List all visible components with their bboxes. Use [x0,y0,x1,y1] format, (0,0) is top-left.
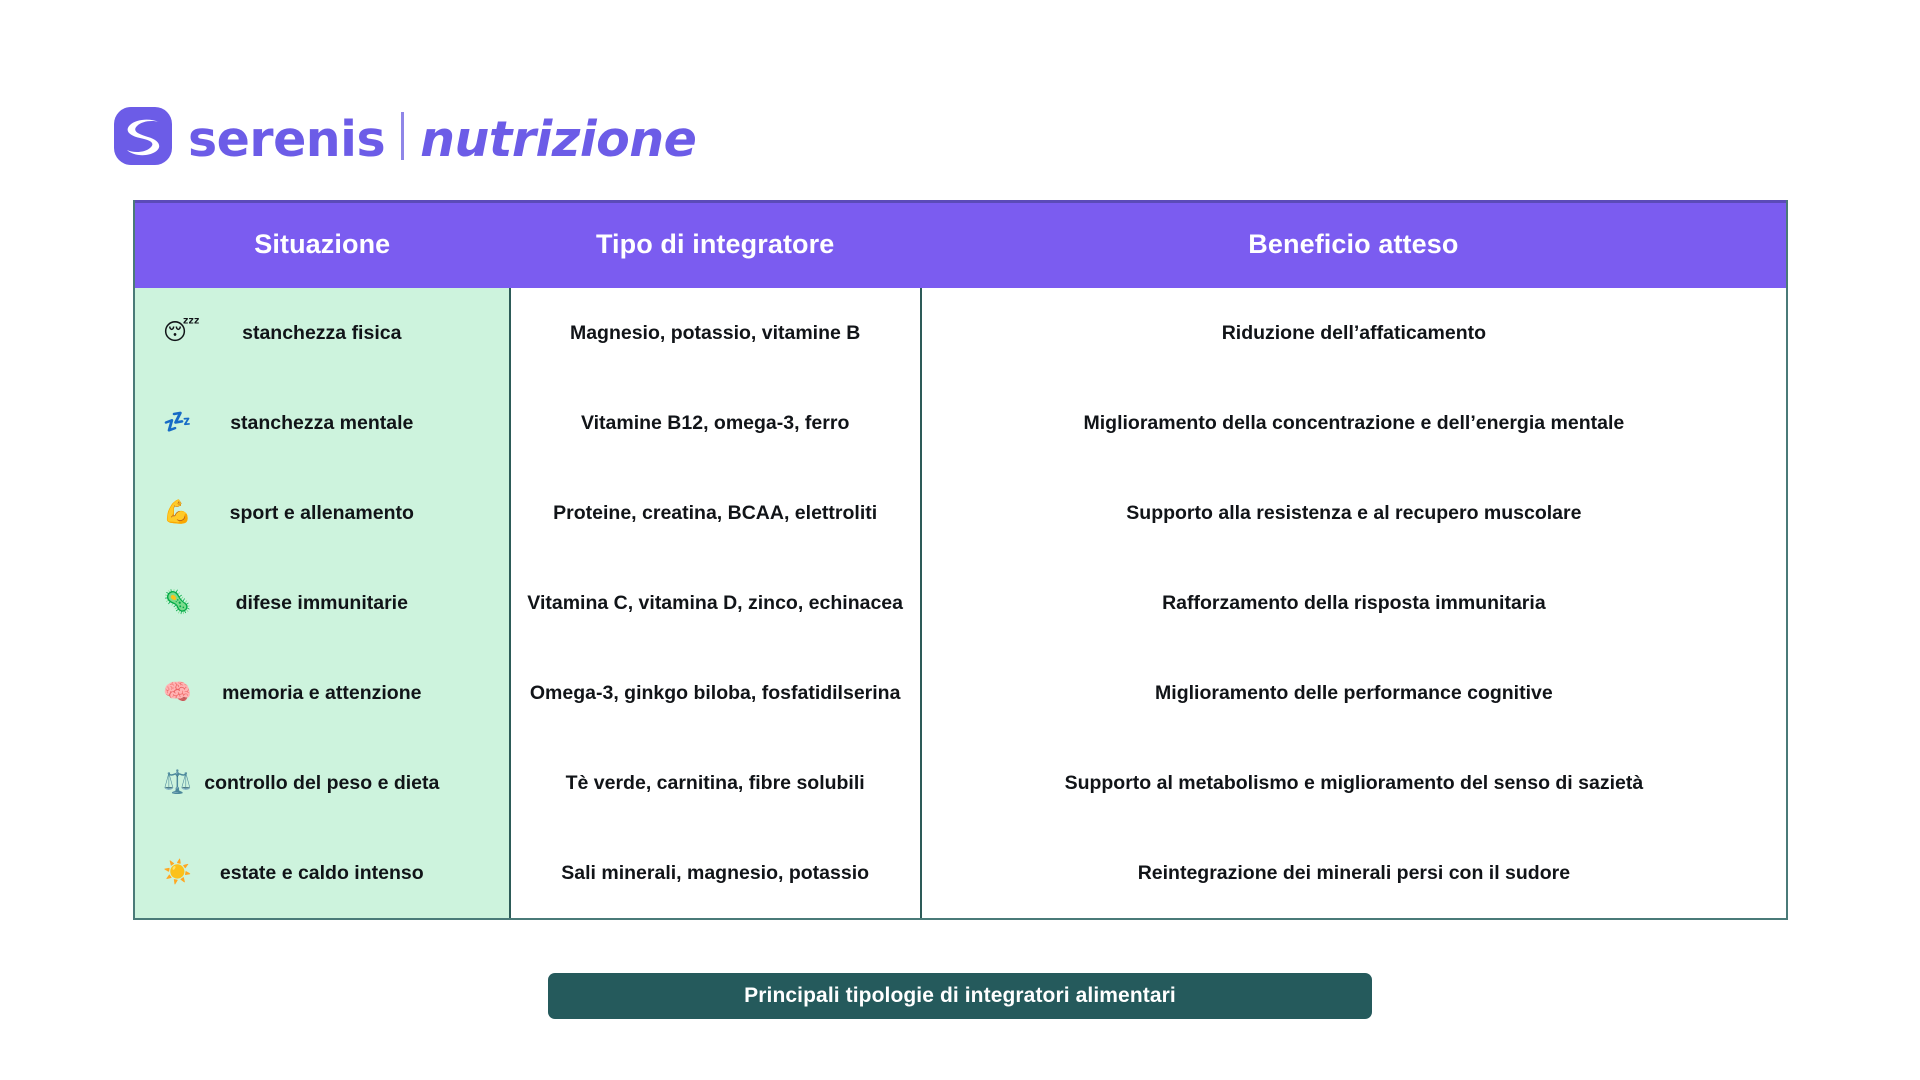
cell-tipo: Proteine, creatina, BCAA, elettroliti [510,468,921,558]
cell-beneficio: Reintegrazione dei minerali persi con il… [921,828,1786,918]
brain-icon: 🧠 [163,682,192,705]
table-header-row: Situazione Tipo di integratore Beneficio… [135,202,1786,289]
cell-beneficio: Supporto alla resistenza e al recupero m… [921,468,1786,558]
cell-beneficio: Miglioramento della concentrazione e del… [921,378,1786,468]
situazione-label: estate e caldo intenso [220,862,424,885]
column-header-situazione: Situazione [135,202,510,289]
microbe-icon: 🦠 [163,592,192,615]
supplements-table: Situazione Tipo di integratore Beneficio… [133,200,1788,920]
balance-scale-icon: ⚖️ [163,772,192,795]
table-row: 😴 stanchezza fisica Magnesio, potassio, … [135,288,1786,378]
zzz-icon: 💤 [163,412,192,435]
table-row: 💪 sport e allenamento Proteine, creatina… [135,468,1786,558]
cell-tipo: Sali minerali, magnesio, potassio [510,828,921,918]
cell-situazione: 💪 sport e allenamento [135,468,510,558]
situazione-label: controllo del peso e dieta [204,772,439,795]
cell-situazione: 🧠 memoria e attenzione [135,648,510,738]
cell-situazione: 🦠 difese immunitarie [135,558,510,648]
cell-situazione: 😴 stanchezza fisica [135,288,510,378]
table-row: ☀️ estate e caldo intenso Sali minerali,… [135,828,1786,918]
cell-tipo: Tè verde, carnitina, fibre solubili [510,738,921,828]
column-header-beneficio: Beneficio atteso [921,202,1786,289]
infographic-page: serenis nutrizione Situazione Tipo di in… [0,0,1920,1080]
cell-tipo: Magnesio, potassio, vitamine B [510,288,921,378]
cell-tipo: Vitamina C, vitamina D, zinco, echinacea [510,558,921,648]
table-row: 🦠 difese immunitarie Vitamina C, vitamin… [135,558,1786,648]
column-header-tipo: Tipo di integratore [510,202,921,289]
cell-tipo: Vitamine B12, omega-3, ferro [510,378,921,468]
cell-situazione: ☀️ estate e caldo intenso [135,828,510,918]
table-row: 🧠 memoria e attenzione Omega-3, ginkgo b… [135,648,1786,738]
brand-divider [401,112,404,160]
cell-situazione: ⚖️ controllo del peso e dieta [135,738,510,828]
brand-wordmark: serenis nutrizione [188,108,696,164]
brand-name: serenis [188,115,385,164]
cell-situazione: 💤 stanchezza mentale [135,378,510,468]
table-row: 💤 stanchezza mentale Vitamine B12, omega… [135,378,1786,468]
cell-beneficio: Rafforzamento della risposta immunitaria [921,558,1786,648]
cell-beneficio: Miglioramento delle performance cognitiv… [921,648,1786,738]
table-row: ⚖️ controllo del peso e dieta Tè verde, … [135,738,1786,828]
situazione-label: stanchezza mentale [230,412,413,435]
flexed-biceps-icon: 💪 [163,502,192,525]
situazione-label: sport e allenamento [230,502,414,525]
cell-beneficio: Riduzione dell’affaticamento [921,288,1786,378]
cell-tipo: Omega-3, ginkgo biloba, fosfatidilserina [510,648,921,738]
cell-beneficio: Supporto al metabolismo e miglioramento … [921,738,1786,828]
sleeping-face-icon: 😴 [163,322,200,345]
sun-icon: ☀️ [163,862,192,885]
situazione-label: stanchezza fisica [242,322,401,345]
situazione-label: difese immunitarie [236,592,408,615]
brand-subtitle: nutrizione [420,115,696,164]
situazione-label: memoria e attenzione [222,682,421,705]
caption-bar: Principali tipologie di integratori alim… [548,973,1372,1019]
serenis-s-logo-icon [114,107,172,165]
brand-logo: serenis nutrizione [114,105,696,167]
